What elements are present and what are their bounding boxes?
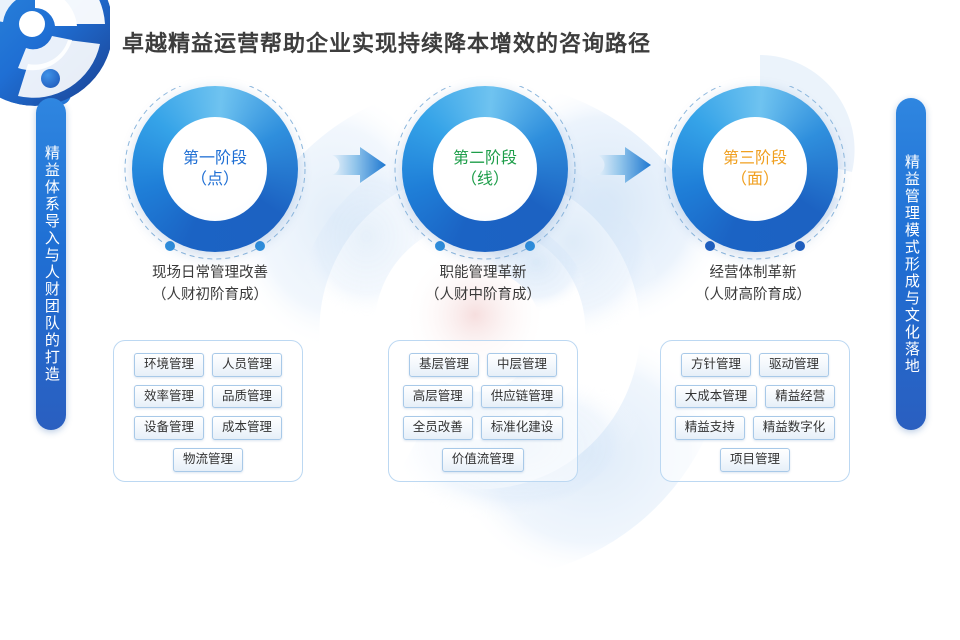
- tag-item[interactable]: 人员管理: [212, 353, 282, 377]
- stage-1-caption-line2: （人财初阶育成）: [95, 284, 325, 306]
- tag-item[interactable]: 品质管理: [212, 385, 282, 409]
- arrow-stage1-to-stage2: [330, 145, 388, 185]
- stage-1-sub: （点）: [191, 169, 239, 190]
- sidebar-left-label: 精益体系导入与人财团队的打造: [43, 145, 59, 383]
- tag-item[interactable]: 高层管理: [403, 385, 473, 409]
- stage-2-sub: （线）: [461, 169, 509, 190]
- tag-item[interactable]: 方针管理: [681, 353, 751, 377]
- tag-item[interactable]: 驱动管理: [759, 353, 829, 377]
- stage-circle-3[interactable]: 第三阶段 （面）: [660, 86, 850, 252]
- stage-1-caption: 现场日常管理改善 （人财初阶育成）: [95, 262, 325, 307]
- sidebar-right[interactable]: 精益管理模式形成与文化落地: [896, 98, 926, 430]
- tag-item[interactable]: 精益经营: [765, 385, 835, 409]
- tag-item[interactable]: 大成本管理: [675, 385, 758, 409]
- tag-item[interactable]: 基层管理: [409, 353, 479, 377]
- stage-2-label: 第二阶段: [453, 148, 517, 169]
- tag-item[interactable]: 供应链管理: [481, 385, 564, 409]
- stage-1-center: 第一阶段 （点）: [163, 117, 267, 221]
- stage-2-center: 第二阶段 （线）: [433, 117, 537, 221]
- tag-item[interactable]: 设备管理: [134, 416, 204, 440]
- tag-item[interactable]: 中层管理: [487, 353, 557, 377]
- stage-2-tag-card: 基层管理 中层管理 高层管理 供应链管理 全员改善 标准化建设 价值流管理: [388, 340, 578, 482]
- sidebar-right-label: 精益管理模式形成与文化落地: [903, 154, 919, 375]
- stage-2-caption: 职能管理革新 （人财中阶育成）: [368, 262, 598, 307]
- tag-item[interactable]: 成本管理: [212, 416, 282, 440]
- sidebar-left[interactable]: 精益体系导入与人财团队的打造: [36, 98, 66, 430]
- tag-item[interactable]: 项目管理: [720, 448, 790, 472]
- tag-item[interactable]: 价值流管理: [442, 448, 525, 472]
- stage-3-label: 第三阶段: [723, 148, 787, 169]
- stage-circle-1[interactable]: 第一阶段 （点）: [120, 86, 310, 252]
- stage-2-caption-line1: 职能管理革新: [368, 262, 598, 284]
- tag-item[interactable]: 标准化建设: [481, 416, 564, 440]
- stage-1-caption-line1: 现场日常管理改善: [95, 262, 325, 284]
- tag-item[interactable]: 效率管理: [134, 385, 204, 409]
- stage-3-caption-line2: （人财高阶育成）: [638, 284, 868, 306]
- stage-3-tag-card: 方针管理 驱动管理 大成本管理 精益经营 精益支持 精益数字化 项目管理: [660, 340, 850, 482]
- tag-item[interactable]: 环境管理: [134, 353, 204, 377]
- stage-3-center: 第三阶段 （面）: [703, 117, 807, 221]
- tag-item[interactable]: 精益支持: [675, 416, 745, 440]
- stage-2-caption-line2: （人财中阶育成）: [368, 284, 598, 306]
- page-title: 卓越精益运营帮助企业实现持续降本增效的咨询路径: [122, 26, 651, 58]
- stage-circle-2[interactable]: 第二阶段 （线）: [390, 86, 580, 252]
- stage-3-caption-line1: 经营体制革新: [638, 262, 868, 284]
- tag-item[interactable]: 全员改善: [403, 416, 473, 440]
- stage-1-tag-card: 环境管理 人员管理 效率管理 品质管理 设备管理 成本管理 物流管理: [113, 340, 303, 482]
- tag-item[interactable]: 物流管理: [173, 448, 243, 472]
- sidebar-left-cap: [41, 69, 60, 88]
- stage-1-label: 第一阶段: [183, 148, 247, 169]
- stage-3-caption: 经营体制革新 （人财高阶育成）: [638, 262, 868, 307]
- tag-item[interactable]: 精益数字化: [753, 416, 836, 440]
- arrow-stage2-to-stage3: [595, 145, 653, 185]
- stage-3-sub: （面）: [731, 169, 779, 190]
